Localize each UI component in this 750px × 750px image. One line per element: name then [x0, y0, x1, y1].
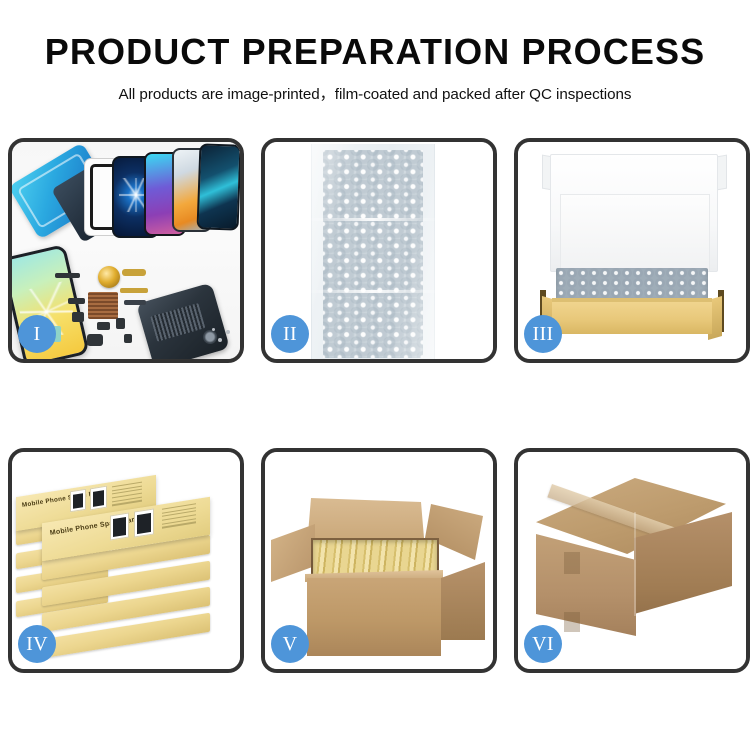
step-badge-2: II — [271, 315, 309, 353]
page-title: PRODUCT PREPARATION PROCESS — [0, 33, 750, 71]
box-thumbnail-rear-1 — [70, 489, 86, 513]
phone-teal-swirl-icon — [197, 143, 240, 230]
ribbon-cable-icon — [124, 300, 146, 305]
camera-module-icon — [97, 322, 110, 330]
plastic-sheen-overlay — [311, 142, 435, 359]
box-thumbnail-rear-2 — [90, 486, 107, 511]
step-badge-5: V — [271, 625, 309, 663]
sim-tray-icon — [124, 334, 132, 343]
yellow-box-front-icon — [552, 302, 712, 334]
process-step-panel-6: VI — [514, 448, 750, 673]
box-thumbnail-front-1 — [110, 512, 129, 540]
small-chip-icon — [68, 298, 85, 304]
products-overview-image: I — [12, 142, 240, 359]
screw-icon — [212, 328, 215, 331]
carton-filled-image: V — [265, 452, 493, 669]
product-preparation-infographic: PRODUCT PREPARATION PROCESS All products… — [0, 0, 750, 750]
connector-chip-icon — [72, 312, 84, 322]
box-thumbnail-front-2 — [134, 508, 154, 537]
inner-mailer-box-image: III — [518, 142, 746, 359]
step-badge-3: III — [524, 315, 562, 353]
bubble-wrap-pouch-image: II — [265, 142, 493, 359]
flex-cable-icon — [122, 269, 146, 276]
header: PRODUCT PREPARATION PROCESS All products… — [0, 0, 750, 125]
process-step-panel-2: II — [261, 138, 497, 363]
page-subtitle: All products are image-printed，film-coat… — [0, 82, 750, 104]
speaker-box-icon — [87, 334, 103, 346]
process-step-panel-4: Mobile Phone Spare Parts Mobile Phone Sp… — [8, 448, 244, 673]
speaker-coil-icon — [98, 266, 120, 288]
vibrator-motor-icon — [116, 318, 125, 329]
process-step-grid: I II — [8, 138, 742, 673]
foam-sheet-icon — [560, 194, 710, 272]
earpiece-chip-icon — [55, 273, 80, 278]
process-step-panel-1: I — [8, 138, 244, 363]
screw-icon — [218, 338, 222, 342]
boxed-stack-image: Mobile Phone Spare Parts Mobile Phone Sp… — [12, 452, 240, 669]
carton-front-face-icon — [307, 578, 441, 656]
step-badge-6: VI — [524, 625, 562, 663]
screw-icon — [226, 330, 230, 334]
carton-seam-upper-icon — [564, 552, 580, 574]
carton-edge-highlight — [634, 512, 636, 616]
process-step-panel-3: III — [514, 138, 750, 363]
step-badge-1: I — [18, 315, 56, 353]
process-step-panel-5: V — [261, 448, 497, 673]
carton-sealed-image: VI — [518, 452, 746, 669]
carton-seam-lower-icon — [564, 612, 580, 632]
flex-cable-icon — [120, 288, 148, 293]
copper-shield-chip-icon — [88, 292, 118, 319]
step-badge-4: IV — [18, 625, 56, 663]
